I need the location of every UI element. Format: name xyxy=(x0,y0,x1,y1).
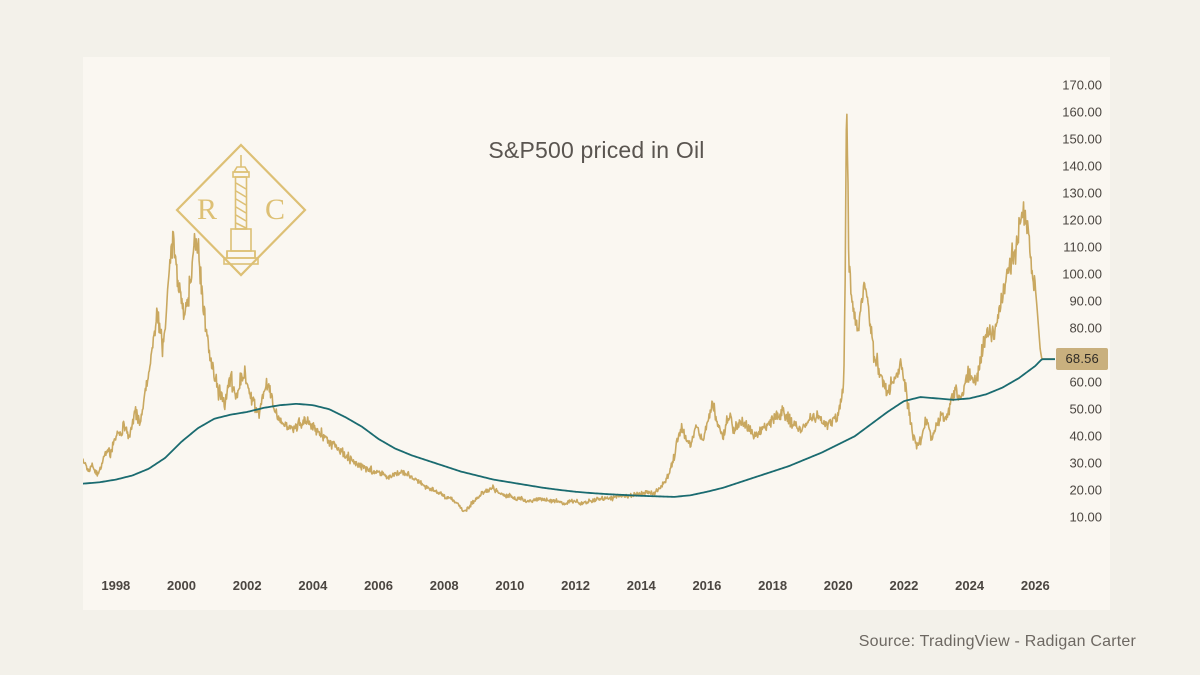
x-axis-tick: 2026 xyxy=(1021,578,1050,593)
x-axis-tick: 2000 xyxy=(167,578,196,593)
x-axis-tick: 2024 xyxy=(955,578,984,593)
current-price-badge[interactable]: 68.56 xyxy=(1056,348,1108,370)
y-axis-tick: 40.00 xyxy=(1069,429,1102,444)
y-axis-tick: 60.00 xyxy=(1069,375,1102,390)
y-axis-tick: 120.00 xyxy=(1062,212,1102,227)
y-axis-tick: 110.00 xyxy=(1063,239,1102,254)
y-axis-tick: 170.00 xyxy=(1062,77,1102,92)
x-axis-tick: 2004 xyxy=(298,578,327,593)
y-axis: 170.00160.00150.00140.00130.00120.00110.… xyxy=(1040,57,1110,577)
y-axis-tick: 10.00 xyxy=(1069,510,1102,525)
y-axis-tick: 90.00 xyxy=(1069,294,1102,309)
x-axis-tick: 2014 xyxy=(627,578,656,593)
plot-area xyxy=(83,57,1055,577)
x-axis-tick: 1998 xyxy=(101,578,130,593)
y-axis-tick: 140.00 xyxy=(1062,158,1102,173)
y-axis-tick: 30.00 xyxy=(1069,456,1102,471)
series-canvas xyxy=(83,57,1055,577)
y-axis-tick: 80.00 xyxy=(1069,321,1102,336)
x-axis-tick: 2010 xyxy=(495,578,524,593)
x-axis-tick: 2006 xyxy=(364,578,393,593)
x-axis-tick: 2018 xyxy=(758,578,787,593)
y-axis-tick: 50.00 xyxy=(1069,402,1102,417)
y-axis-tick: 160.00 xyxy=(1062,104,1102,119)
x-axis-tick: 2022 xyxy=(889,578,918,593)
x-axis-tick: 2012 xyxy=(561,578,590,593)
x-axis-tick: 2002 xyxy=(233,578,262,593)
source-credit: Source: TradingView - Radigan Carter xyxy=(859,633,1136,651)
x-axis-tick: 2020 xyxy=(824,578,853,593)
x-axis: 1998200020022004200620082010201220142016… xyxy=(83,578,1055,602)
y-axis-tick: 130.00 xyxy=(1062,185,1102,200)
chart-panel: R C S&P500 priced in Oil 170.00160.00150… xyxy=(83,57,1110,610)
y-axis-tick: 100.00 xyxy=(1062,266,1102,281)
y-axis-tick: 20.00 xyxy=(1069,483,1102,498)
y-axis-tick: 150.00 xyxy=(1062,131,1102,146)
price-line xyxy=(83,114,1055,511)
x-axis-tick: 2016 xyxy=(692,578,721,593)
x-axis-tick: 2008 xyxy=(430,578,459,593)
